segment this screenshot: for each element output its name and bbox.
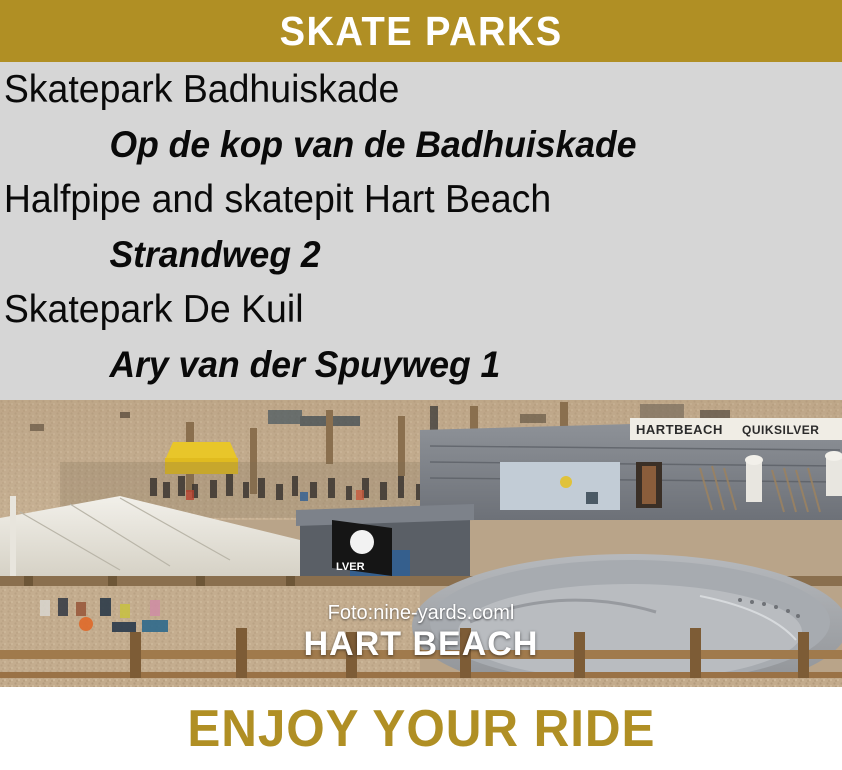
- footer-bar: ENJOY YOUR RIDE: [0, 687, 842, 770]
- park-name: Skatepark Badhuiskade: [0, 62, 808, 118]
- park-address: Strandweg 2: [0, 228, 808, 282]
- park-name: Halfpipe and skatepit Hart Beach: [0, 172, 808, 228]
- park-name: Skatepark De Kuil: [0, 282, 808, 338]
- header-bar: SKATE PARKS: [0, 0, 842, 62]
- quiksilver-banner-text: LVER: [336, 561, 365, 573]
- park-address: Op de kop van de Badhuiskade: [0, 118, 808, 172]
- park-address: Ary van der Spuyweg 1: [0, 338, 808, 392]
- list-item: Skatepark Badhuiskade Op de kop van de B…: [0, 62, 842, 172]
- footer-slogan: ENJOY YOUR RIDE: [187, 703, 655, 755]
- list-item: Skatepark De Kuil Ary van der Spuyweg 1: [0, 282, 842, 392]
- skate-park-list: Skatepark Badhuiskade Op de kop van de B…: [0, 62, 842, 400]
- skate-parks-poster: SKATE PARKS Skatepark Badhuiskade Op de …: [0, 0, 842, 770]
- beach-club-illustration: HARTBEACH QUIKSILVER: [0, 400, 842, 687]
- list-item: Halfpipe and skatepit Hart Beach Strandw…: [0, 172, 842, 282]
- page-title: SKATE PARKS: [280, 11, 563, 52]
- beach-club-photo: HARTBEACH QUIKSILVER: [0, 400, 842, 687]
- hartbeach-sign-text: HARTBEACH: [636, 422, 723, 437]
- quiksilver-sign-text: QUIKSILVER: [742, 423, 819, 437]
